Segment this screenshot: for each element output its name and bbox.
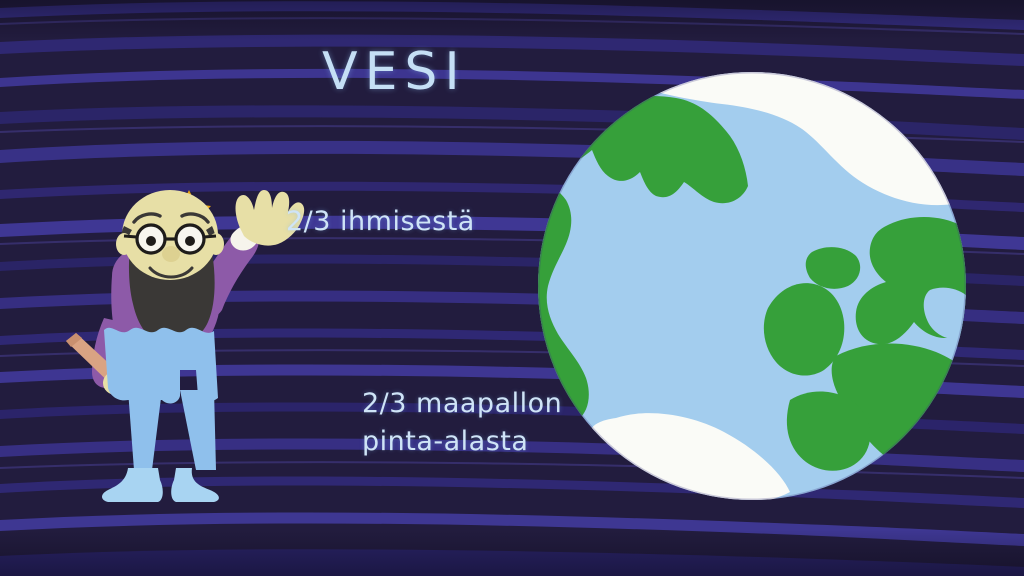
character-leg-left xyxy=(128,390,162,470)
page-title: VESI xyxy=(322,42,467,102)
character-shoe-left xyxy=(102,468,163,502)
caption-earth-surface-share: 2/3 maapallon pinta-alasta xyxy=(362,385,562,461)
caption-earth-surface-line1: 2/3 maapallon xyxy=(362,385,562,423)
bearded-character xyxy=(0,0,1024,576)
caption-human-water-share: 2/3 ihmisestä xyxy=(286,206,475,237)
eye-right xyxy=(185,236,195,246)
caption-earth-surface-line2: pinta-alasta xyxy=(362,423,562,461)
eye-left xyxy=(146,236,156,246)
character-shoe-right xyxy=(171,468,219,502)
character-nose xyxy=(162,246,180,262)
character-leg-right xyxy=(180,390,216,470)
slide-scene: VESI 2/3 ihmisestä 2/3 maapallon pinta-a… xyxy=(0,0,1024,576)
